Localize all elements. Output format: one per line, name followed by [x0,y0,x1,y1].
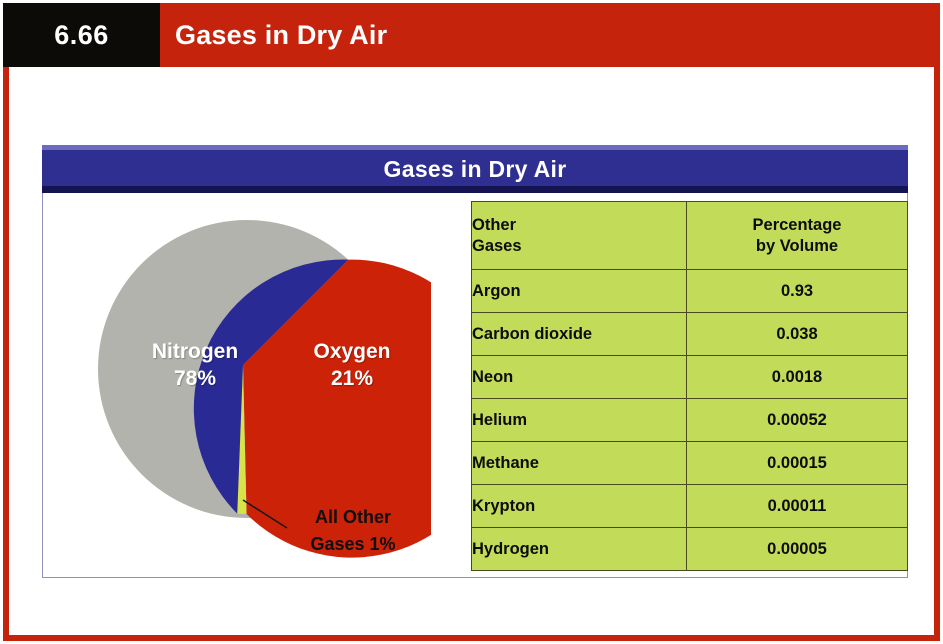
table-cell-percentage: 0.93 [687,270,908,313]
table-cell-gas: Argon [472,270,687,313]
table-cell-gas: Carbon dioxide [472,313,687,356]
figure-panel: Gases in Dry Air Nitrogen [42,145,908,578]
figure-banner: Gases in Dry Air [42,145,908,193]
slide-header: 6.66 Gases in Dry Air [3,3,940,67]
table-cell-gas: Neon [472,356,687,399]
slide-page: 6.66 Gases in Dry Air Gases in Dry Air [0,0,943,644]
table-row: Carbon dioxide 0.038 [472,313,908,356]
pie-label-nitrogen-name: Nitrogen [115,338,275,365]
table-row: Hydrogen 0.00005 [472,528,908,571]
table-header-row: Other Gases Percentage by Volume [472,202,908,270]
table-cell-gas: Krypton [472,485,687,528]
pie-label-nitrogen-value: 78% [115,365,275,392]
pie-label-other-gases: All Other Gases 1% [273,504,433,558]
pie-label-nitrogen: Nitrogen 78% [115,338,275,392]
figure-banner-title: Gases in Dry Air [42,156,908,183]
figure-body: Nitrogen 78% Oxygen 21% All Other Gases … [42,193,908,578]
table-header-gas-line2: Gases [472,236,686,257]
pie-chart: Nitrogen 78% Oxygen 21% All Other Gases … [91,208,431,578]
table-cell-percentage: 0.00015 [687,442,908,485]
table-row: Helium 0.00052 [472,399,908,442]
slide-number: 6.66 [3,3,160,67]
table-header-gas-line1: Other [472,215,686,236]
table-row: Krypton 0.00011 [472,485,908,528]
slide-title: Gases in Dry Air [175,3,387,67]
table-cell-percentage: 0.0018 [687,356,908,399]
table-cell-percentage: 0.038 [687,313,908,356]
pie-label-oxygen-name: Oxygen [287,338,417,365]
table-header-percentage-line2: by Volume [687,236,907,257]
table-row: Argon 0.93 [472,270,908,313]
pie-label-other-gases-line2: Gases 1% [273,531,433,558]
table-cell-gas: Hydrogen [472,528,687,571]
pie-label-oxygen-value: 21% [287,365,417,392]
table-header-percentage: Percentage by Volume [687,202,908,270]
table-cell-percentage: 0.00011 [687,485,908,528]
table-cell-gas: Helium [472,399,687,442]
table-header-gas: Other Gases [472,202,687,270]
table-cell-percentage: 0.00052 [687,399,908,442]
table-row: Neon 0.0018 [472,356,908,399]
table-header-percentage-line1: Percentage [687,215,907,236]
slide-number-box: 6.66 [3,3,160,67]
table-cell-gas: Methane [472,442,687,485]
table-cell-percentage: 0.00005 [687,528,908,571]
pie-label-oxygen: Oxygen 21% [287,338,417,392]
gases-table: Other Gases Percentage by Volume Argon 0… [471,201,908,571]
table-row: Methane 0.00015 [472,442,908,485]
pie-label-other-gases-line1: All Other [273,504,433,531]
